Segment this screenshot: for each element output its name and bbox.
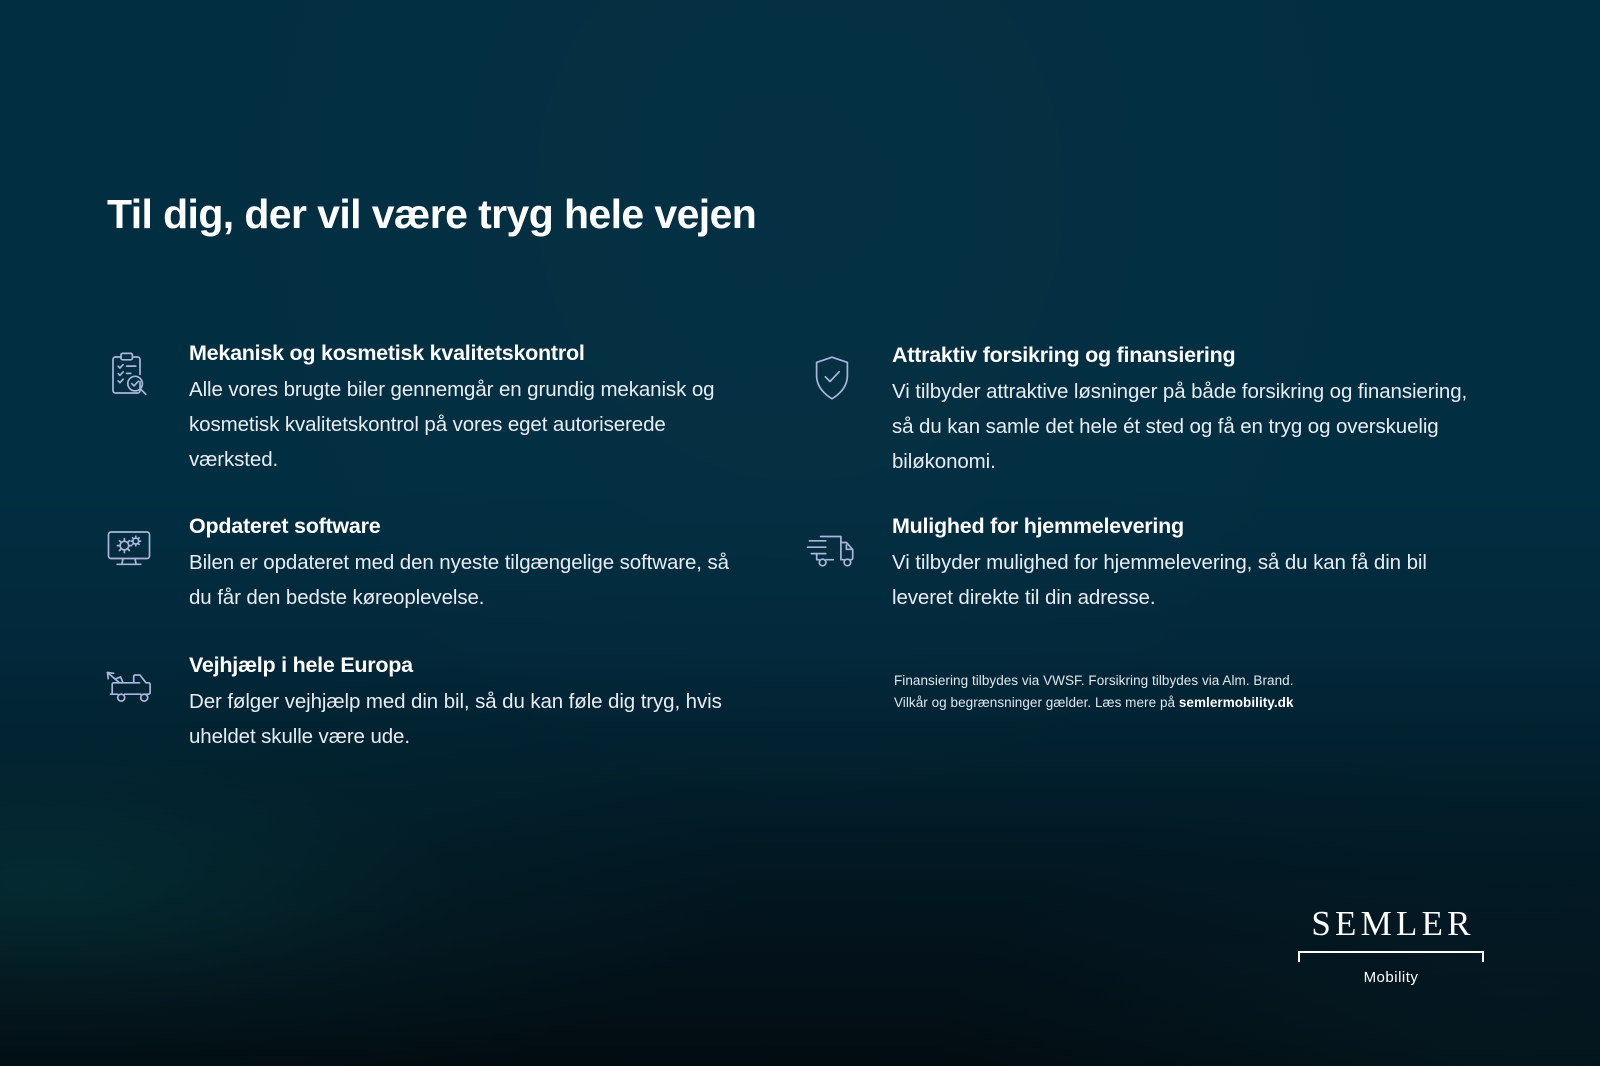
feature-item-insurance-financing: Attraktiv forsikring og finansiering Vi …: [806, 342, 1486, 479]
logo-wordmark: SEMLER: [1296, 906, 1486, 941]
disclaimer-text: Finansiering tilbydes via VWSF. Forsikri…: [894, 670, 1434, 714]
disclaimer-line-2-prefix: Vilkår og begrænsninger gælder. Læs mere…: [894, 695, 1179, 710]
feature-description: Vi tilbyder attraktive løsninger på både…: [892, 375, 1472, 480]
logo-subtitle: Mobility: [1296, 969, 1486, 986]
slide-canvas: Til dig, der vil være tryg hele vejen: [0, 0, 1600, 1066]
feature-item-quality-control: Mekanisk og kosmetisk kvalitetskontrol A…: [103, 340, 763, 477]
feature-body: Mekanisk og kosmetisk kvalitetskontrol A…: [155, 340, 763, 477]
feature-description: Bilen er opdateret med den nyeste tilgæn…: [189, 546, 729, 616]
feature-item-roadside-assistance: Vejhjælp i hele Europa Der følger vejhjæ…: [103, 652, 763, 755]
feature-title: Mekanisk og kosmetisk kvalitetskontrol: [189, 340, 763, 367]
semler-mobility-logo: SEMLER Mobility: [1296, 906, 1486, 986]
logo-rule-tick-left: [1298, 951, 1300, 962]
clipboard-check-magnifier-icon: [103, 350, 155, 402]
shield-check-icon: [806, 352, 858, 404]
feature-title: Opdateret software: [189, 513, 763, 540]
feature-title: Vejhjælp i hele Europa: [189, 652, 763, 679]
feature-item-home-delivery: Mulighed for hjemmelevering Vi tilbyder …: [806, 513, 1486, 616]
disclaimer-line-1: Finansiering tilbydes via VWSF. Forsikri…: [894, 673, 1294, 688]
feature-title: Mulighed for hjemmelevering: [892, 513, 1486, 540]
monitor-gears-icon: [103, 523, 155, 575]
feature-column-right: Attraktiv forsikring og finansiering Vi …: [806, 340, 1486, 616]
page-title: Til dig, der vil være tryg hele vejen: [107, 192, 756, 238]
delivery-truck-icon: [806, 523, 858, 575]
logo-rule-tick-right: [1482, 951, 1484, 962]
feature-body: Attraktiv forsikring og finansiering Vi …: [858, 342, 1486, 479]
tow-truck-icon: [103, 662, 155, 714]
feature-item-updated-software: Opdateret software Bilen er opdateret me…: [103, 513, 763, 616]
feature-description: Der følger vejhjælp med din bil, så du k…: [189, 685, 729, 755]
feature-body: Mulighed for hjemmelevering Vi tilbyder …: [858, 513, 1486, 616]
feature-title: Attraktiv forsikring og finansiering: [892, 342, 1486, 369]
feature-body: Opdateret software Bilen er opdateret me…: [155, 513, 763, 616]
feature-body: Vejhjælp i hele Europa Der følger vejhjæ…: [155, 652, 763, 755]
feature-description: Vi tilbyder mulighed for hjemmelevering,…: [892, 546, 1472, 616]
disclaimer-website-link[interactable]: semlermobility.dk: [1179, 695, 1294, 710]
feature-description: Alle vores brugte biler gennemgår en gru…: [189, 373, 729, 478]
feature-column-left: Mekanisk og kosmetisk kvalitetskontrol A…: [103, 340, 763, 755]
logo-divider-rule: [1298, 951, 1484, 962]
